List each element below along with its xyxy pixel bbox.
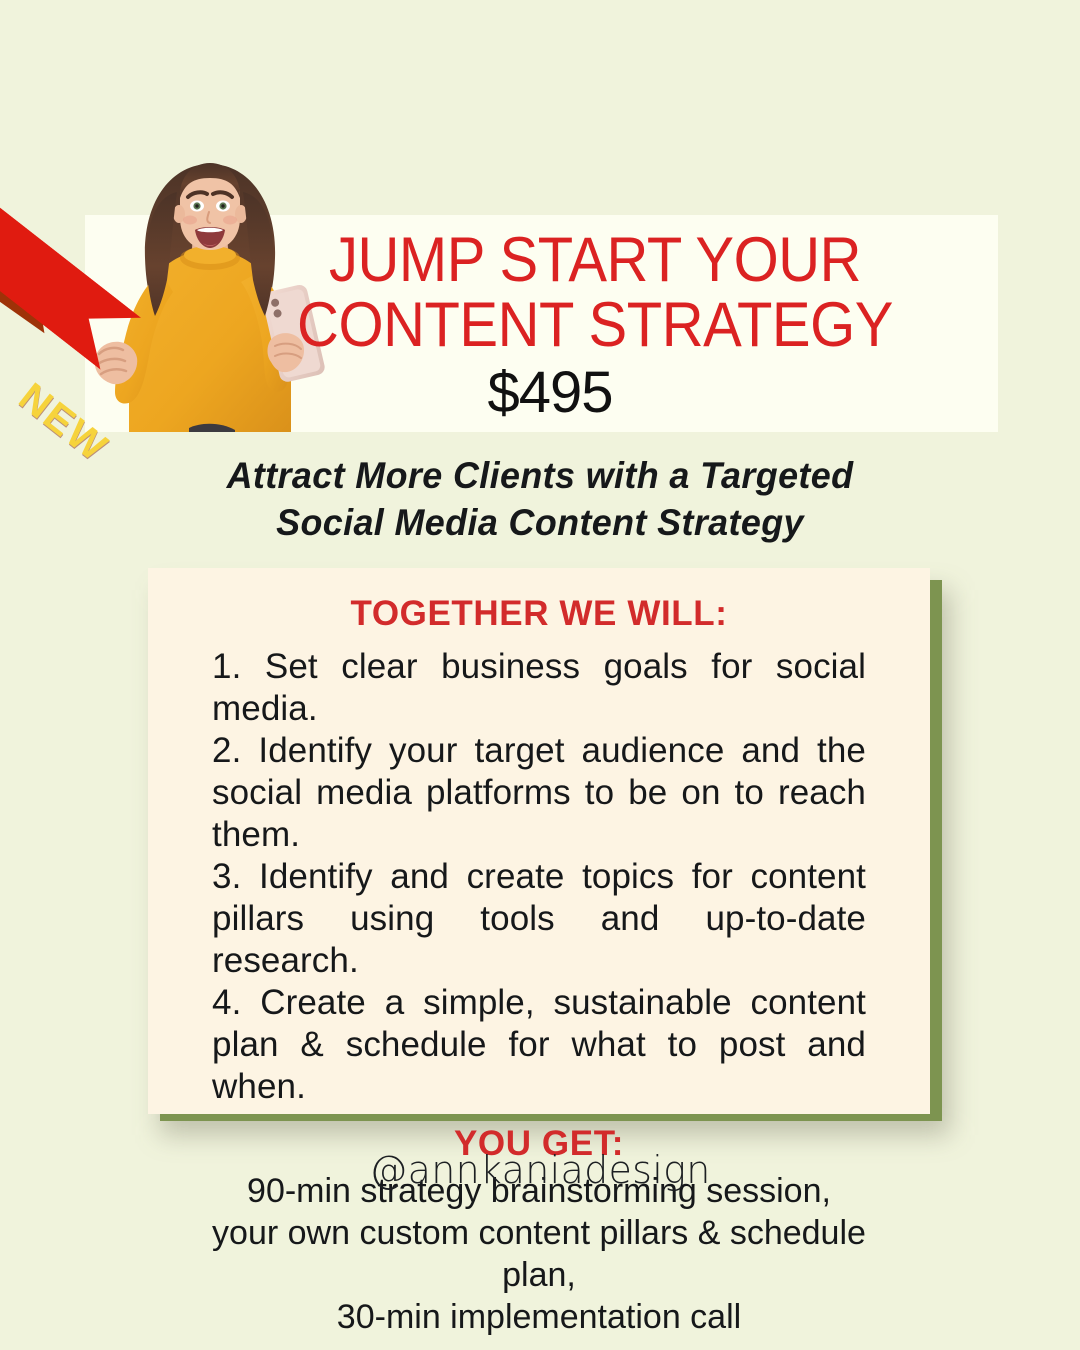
list-item: 4. Create a simple, sustainable content … bbox=[212, 982, 866, 1108]
steps-list: 1. Set clear business goals for social m… bbox=[212, 646, 866, 1108]
headline-line-1: JUMP START YOUR bbox=[232, 228, 959, 293]
list-item: 30-min implementation call bbox=[212, 1296, 866, 1338]
together-we-will-heading: TOGETHER WE WILL: bbox=[212, 592, 866, 636]
social-handle: @annkaniadesign bbox=[140, 1148, 940, 1192]
list-item: 3. Identify and create topics for conten… bbox=[212, 856, 866, 982]
subtitle-line-2: Social Media Content Strategy bbox=[152, 499, 928, 546]
price-label: $495 bbox=[200, 362, 900, 424]
new-ribbon: NEW bbox=[0, 148, 226, 363]
subtitle-line-1: Attract More Clients with a Targeted bbox=[152, 452, 928, 499]
list-item: 2. Identify your target audience and the… bbox=[212, 730, 866, 856]
deliverables-list: 90-min strategy brainstorming session, y… bbox=[212, 1170, 866, 1338]
headline-line-2: CONTENT STRATEGY bbox=[232, 293, 959, 358]
subtitle: Attract More Clients with a Targeted Soc… bbox=[152, 452, 928, 546]
page-title: JUMP START YOUR CONTENT STRATEGY bbox=[232, 228, 959, 358]
offer-card: TOGETHER WE WILL: 1. Set clear business … bbox=[148, 568, 930, 1114]
poster-canvas: NEW JUMP START YOUR CONTENT STRATEGY $49… bbox=[0, 0, 1080, 1350]
list-item: 1. Set clear business goals for social m… bbox=[212, 646, 866, 730]
list-item: your own custom content pillars & schedu… bbox=[212, 1212, 866, 1296]
